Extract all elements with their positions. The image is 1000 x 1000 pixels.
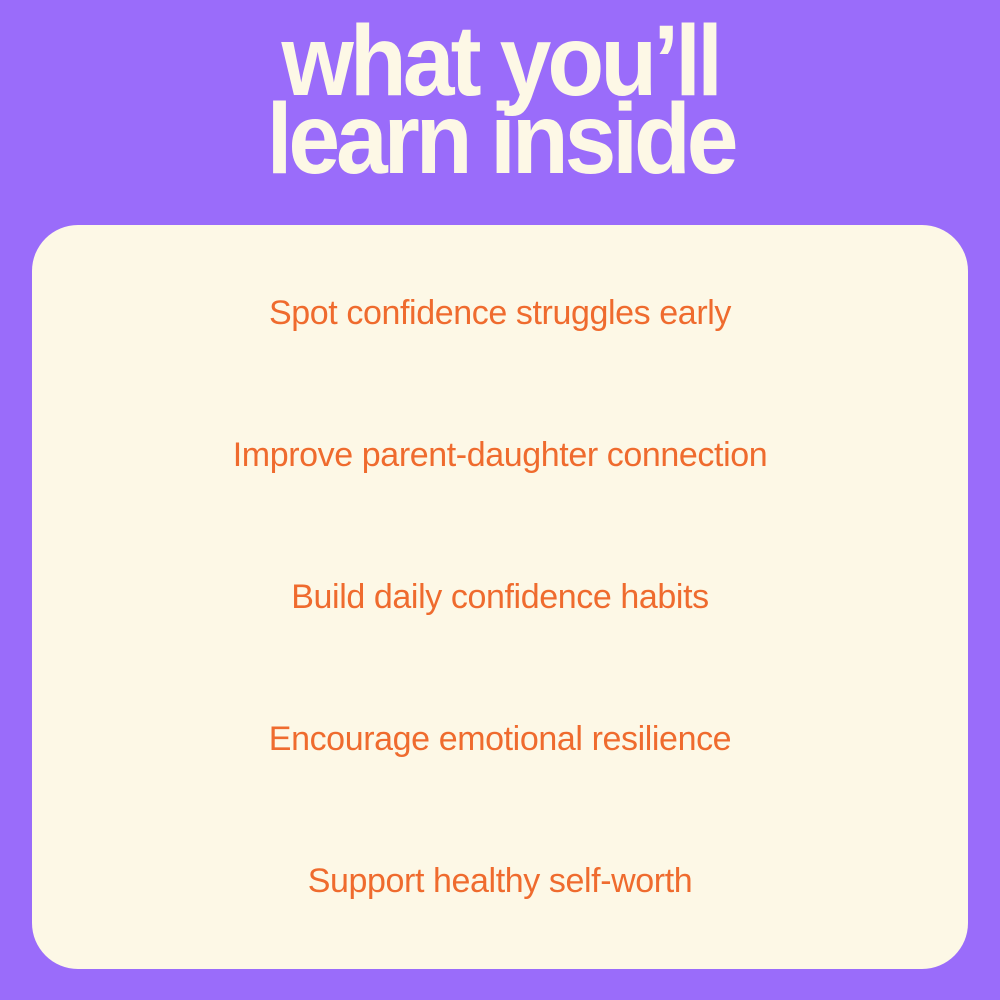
list-item: Build daily confidence habits: [72, 526, 928, 668]
list-item-label: Build daily confidence habits: [291, 577, 708, 617]
page-title-line-2: learn inside: [266, 100, 734, 178]
list-item: Encourage emotional resilience: [72, 668, 928, 810]
list-item: Spot confidence struggles early: [72, 242, 928, 384]
poster-canvas: what you’ll learn inside Spot confidence…: [0, 0, 1000, 1000]
benefits-list: Spot confidence struggles early Improve …: [72, 242, 928, 952]
page-title: what you’ll learn inside: [0, 0, 1000, 225]
list-item-label: Improve parent-daughter connection: [233, 435, 768, 475]
list-item-label: Encourage emotional resilience: [269, 719, 731, 759]
list-item: Support healthy self-worth: [72, 810, 928, 952]
list-item: Improve parent-daughter connection: [72, 384, 928, 526]
list-item-label: Spot confidence struggles early: [269, 293, 731, 333]
list-item-label: Support healthy self-worth: [308, 861, 693, 901]
benefits-card: Spot confidence struggles early Improve …: [32, 225, 968, 969]
